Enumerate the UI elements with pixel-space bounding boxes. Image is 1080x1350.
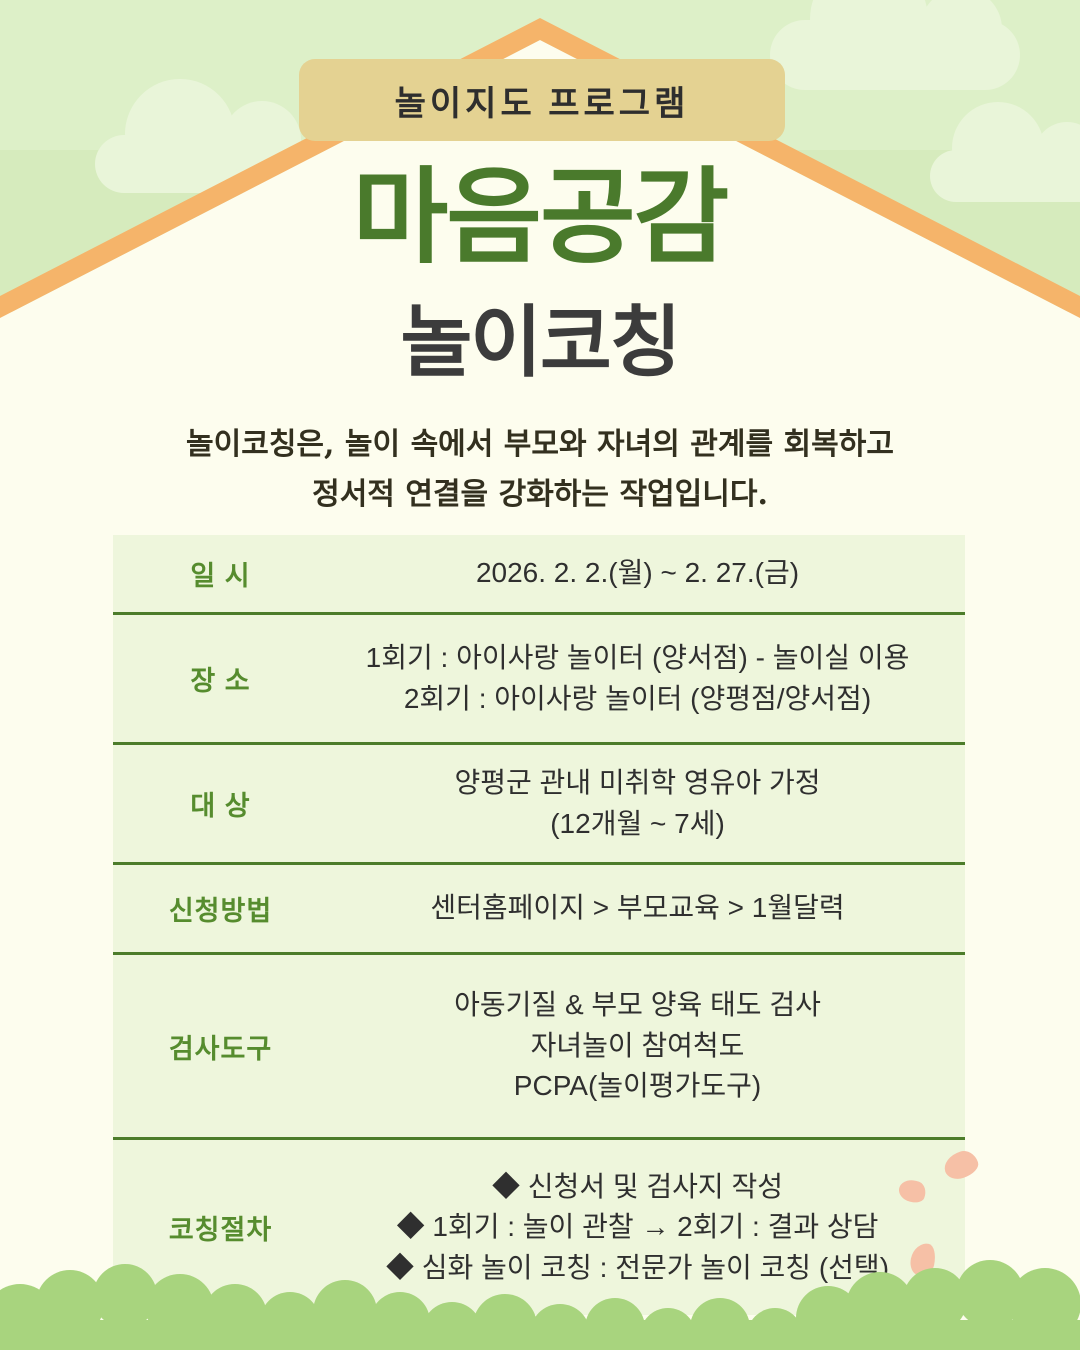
tagline-line-1: 놀이코칭은, 놀이 속에서 부모와 자녀의 관계를 회복하고	[0, 420, 1080, 470]
table-row-target: 대 상 양평군 관내 미취학 영유아 가정 (12개월 ~ 7세)	[113, 745, 965, 865]
row-value-place: 1회기 : 아이사랑 놀이터 (양서점) - 놀이실 이용 2회기 : 아이사랑…	[328, 638, 965, 719]
row-value-date: 2026. 2. 2.(월) ~ 2. 27.(금)	[328, 553, 965, 594]
row-value-line: 양평군 관내 미취학 영유아 가정	[328, 763, 947, 804]
row-value-apply: 센터홈페이지 > 부모교육 > 1월달력	[328, 888, 965, 929]
row-value-line: 1회기 : 아이사랑 놀이터 (양서점) - 놀이실 이용	[328, 638, 947, 679]
row-value-line: 2026. 2. 2.(월) ~ 2. 27.(금)	[328, 553, 947, 594]
row-label-tools: 검사도구	[113, 1027, 328, 1066]
table-row-date: 일 시 2026. 2. 2.(월) ~ 2. 27.(금)	[113, 535, 965, 615]
table-row-apply: 신청방법 센터홈페이지 > 부모교육 > 1월달력	[113, 865, 965, 955]
program-badge: 놀이지도 프로그램	[299, 59, 785, 141]
row-value-line: ◆ 신청서 및 검사지 작성	[328, 1167, 947, 1208]
row-value-line: 자녀놀이 참여척도	[328, 1026, 947, 1067]
row-value-line: 센터홈페이지 > 부모교육 > 1월달력	[328, 888, 947, 929]
row-label-steps: 코칭절차	[113, 1208, 328, 1247]
row-label-date: 일 시	[113, 554, 328, 593]
row-label-apply: 신청방법	[113, 889, 328, 928]
page-title-main: 마음공감	[0, 162, 1080, 274]
row-value-line: PCPA(놀이평가도구)	[328, 1066, 947, 1107]
poster-canvas: 놀이지도 프로그램 마음공감 놀이코칭 놀이코칭은, 놀이 속에서 부모와 자녀…	[0, 0, 1080, 1350]
row-value-target: 양평군 관내 미취학 영유아 가정 (12개월 ~ 7세)	[328, 763, 965, 844]
row-value-tools: 아동기질 & 부모 양육 태도 검사 자녀놀이 참여척도 PCPA(놀이평가도구…	[328, 985, 965, 1107]
table-row-place: 장 소 1회기 : 아이사랑 놀이터 (양서점) - 놀이실 이용 2회기 : …	[113, 615, 965, 745]
tagline-line-2: 정서적 연결을 강화하는 작업입니다.	[0, 470, 1080, 520]
bush-decoration	[0, 1260, 1080, 1350]
row-value-line: (12개월 ~ 7세)	[328, 804, 947, 845]
info-table: 일 시 2026. 2. 2.(월) ~ 2. 27.(금) 장 소 1회기 :…	[113, 535, 965, 1315]
page-title-sub: 놀이코칭	[0, 300, 1080, 386]
row-value-line: 아동기질 & 부모 양육 태도 검사	[328, 985, 947, 1026]
row-label-place: 장 소	[113, 659, 328, 698]
row-value-line: 2회기 : 아이사랑 놀이터 (양평점/양서점)	[328, 679, 947, 720]
row-label-target: 대 상	[113, 784, 328, 823]
tagline: 놀이코칭은, 놀이 속에서 부모와 자녀의 관계를 회복하고 정서적 연결을 강…	[0, 420, 1080, 519]
program-badge-label: 놀이지도 프로그램	[395, 76, 690, 125]
row-value-line: ◆ 1회기 : 놀이 관찰 → 2회기 : 결과 상담	[328, 1207, 947, 1248]
table-row-tools: 검사도구 아동기질 & 부모 양육 태도 검사 자녀놀이 참여척도 PCPA(놀…	[113, 955, 965, 1140]
